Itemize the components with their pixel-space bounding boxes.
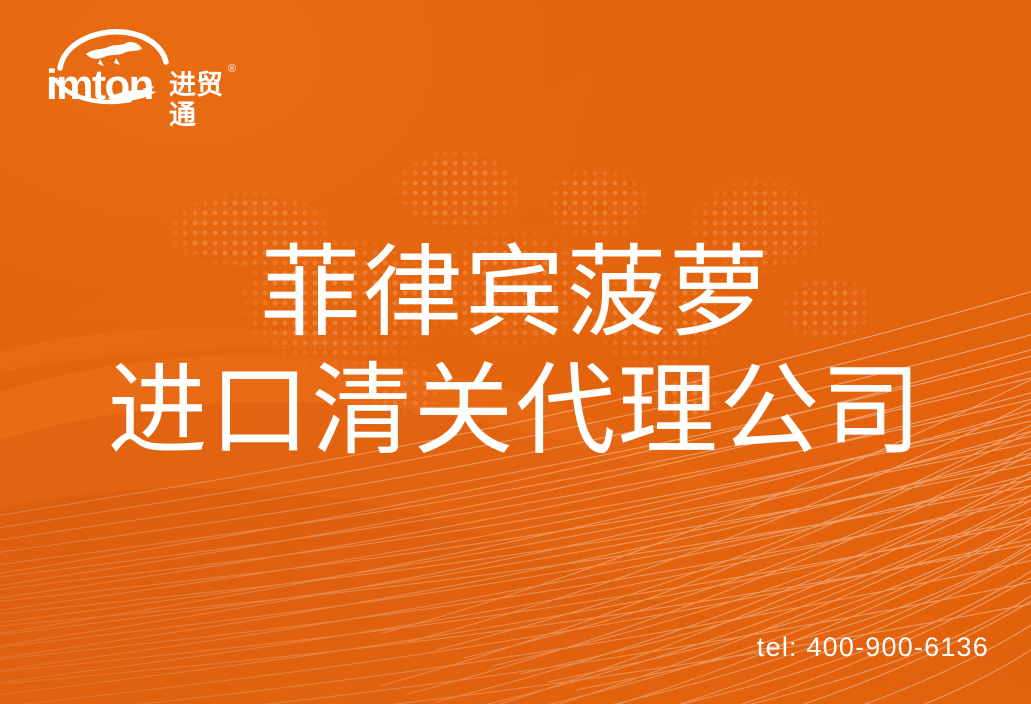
promo-banner: imton 进贸通 ® 菲律宾菠萝 进口清关代理公司 tel: 400-900-… (0, 0, 1031, 704)
brand-logo[interactable]: imton 进贸通 ® (38, 28, 238, 106)
logo-chinese-name: 进贸通 (169, 70, 238, 130)
headline-line-1: 菲律宾菠萝 (0, 234, 1031, 352)
headline-line-2: 进口清关代理公司 (0, 352, 1031, 470)
page-title: 菲律宾菠萝 进口清关代理公司 (0, 234, 1031, 470)
registered-trademark-icon: ® (228, 64, 236, 75)
telephone-number[interactable]: tel: 400-900-6136 (757, 631, 989, 663)
logo-wordmark: imton (46, 64, 153, 106)
